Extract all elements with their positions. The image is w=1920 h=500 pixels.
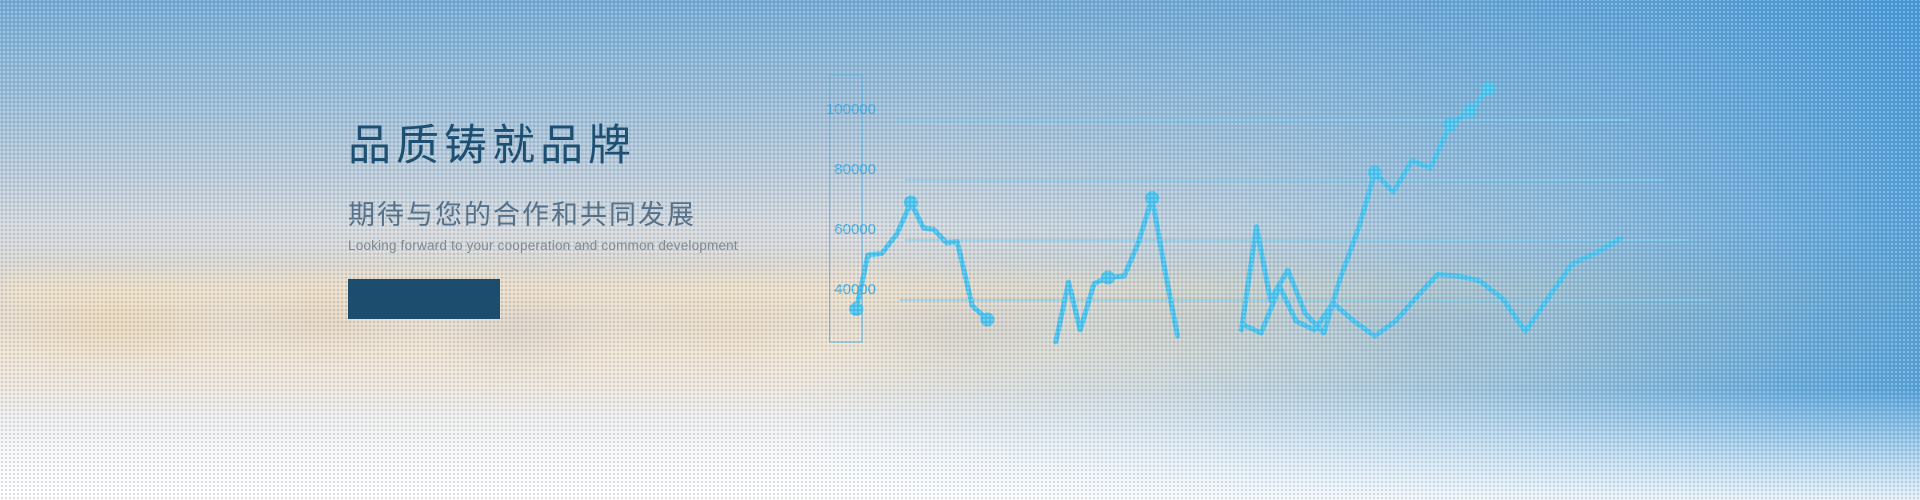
y-tick-label: 100000 xyxy=(826,101,876,118)
cta-button[interactable] xyxy=(348,279,500,319)
background-bottom-fade xyxy=(0,390,1920,500)
chart-gridlines xyxy=(893,120,1711,300)
hero-banner: 100000800006000040000 品质铸就品牌 期待与您的合作和共同发… xyxy=(0,0,1920,500)
subheadline: 期待与您的合作和共同发展 xyxy=(348,199,988,231)
headline: 品质铸就品牌 xyxy=(348,122,988,171)
tagline-english: Looking forward to your cooperation and … xyxy=(348,238,988,253)
copy-block: 品质铸就品牌 期待与您的合作和共同发展 Looking forward to y… xyxy=(348,122,988,319)
